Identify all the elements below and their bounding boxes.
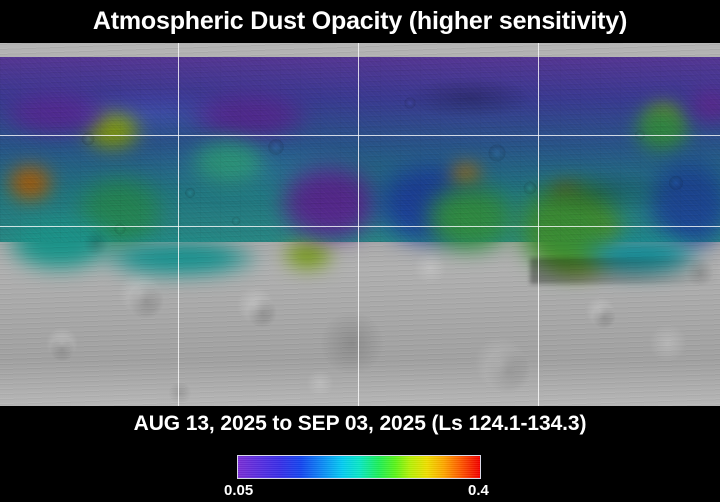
mars-map[interactable]	[0, 43, 720, 406]
colorbar-texture	[238, 456, 480, 478]
dust-opacity-map-page: Atmospheric Dust Opacity (higher sensiti…	[0, 0, 720, 502]
footer-bar: AUG 13, 2025 to SEP 03, 2025 (Ls 124.1-1…	[0, 406, 720, 502]
colorbar-max-label: 0.4	[468, 482, 489, 499]
date-range-label: AUG 13, 2025 to SEP 03, 2025 (Ls 124.1-1…	[0, 412, 720, 436]
dust-pixel-grid	[0, 57, 720, 242]
terrain-south-band	[0, 360, 720, 406]
title-bar: Atmospheric Dust Opacity (higher sensiti…	[0, 0, 720, 43]
blob-cyan-southcenter	[100, 238, 260, 278]
dust-opacity-overlay	[0, 57, 720, 242]
colorbar-min-label: 0.05	[224, 482, 253, 499]
colorbar	[237, 455, 481, 479]
page-title: Atmospheric Dust Opacity (higher sensiti…	[93, 7, 627, 36]
